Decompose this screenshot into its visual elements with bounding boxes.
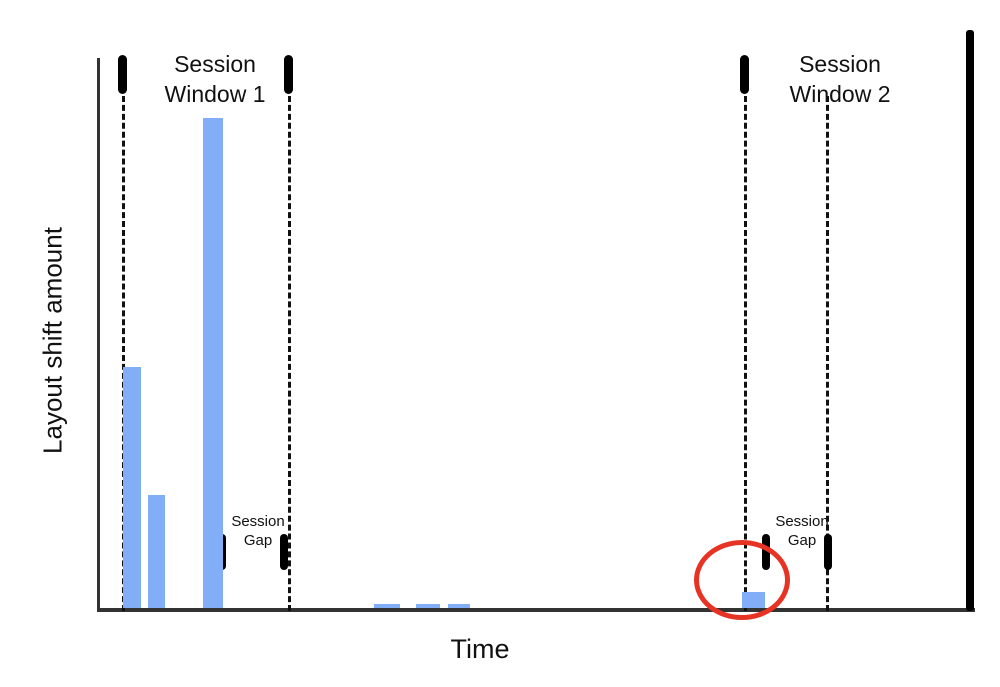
- bar-t1: [123, 367, 141, 608]
- session-window-1-start-marker: [118, 55, 127, 94]
- session-window-2-label: Session Window 2: [765, 49, 915, 109]
- x-axis-line: [97, 608, 975, 612]
- timeline-end-marker: [966, 30, 974, 611]
- session-gap-1-label: Session Gap: [219, 512, 297, 550]
- x-axis-title: Time: [380, 634, 580, 665]
- y-axis-line: [97, 58, 100, 611]
- session-window-2-start-boundary: [744, 96, 747, 611]
- bar-t4: [374, 604, 400, 608]
- bar-t6: [448, 604, 470, 608]
- chart-canvas: Layout shift amount Time Session Window …: [0, 0, 1000, 687]
- y-axis-title: Layout shift amount: [38, 201, 69, 481]
- session-window-2-start-marker: [740, 55, 749, 94]
- bar-t5: [416, 604, 440, 608]
- session-window-1-label: Session Window 1: [140, 49, 290, 109]
- highlight-ellipse: [694, 540, 790, 620]
- bar-t2: [148, 495, 165, 608]
- bar-t3: [203, 118, 223, 608]
- session-gap-2-label: Session Gap: [763, 512, 841, 550]
